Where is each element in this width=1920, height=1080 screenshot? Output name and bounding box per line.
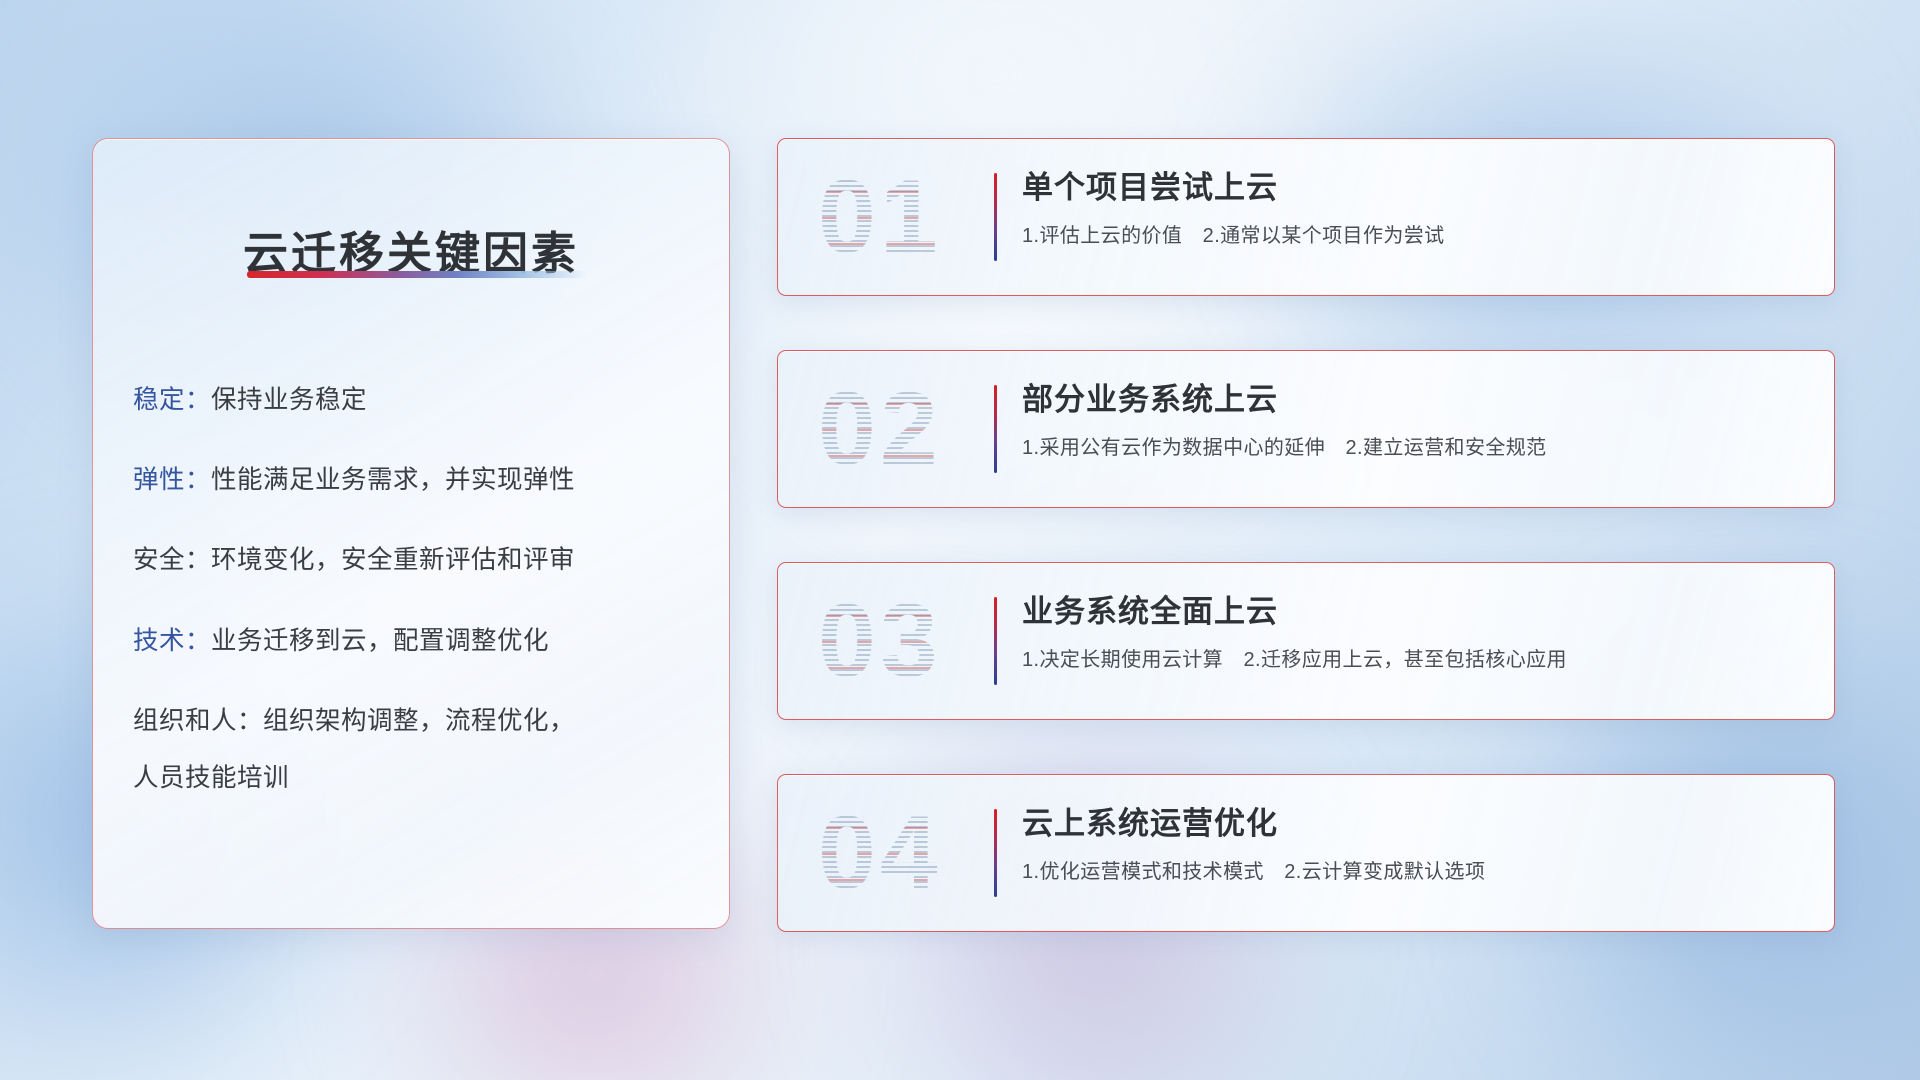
stage-body-02: 部分业务系统上云 1.采用公有云作为数据中心的延伸 2.建立运营和安全规范 — [1022, 381, 1810, 460]
stage-number-02-red-overlay: 02 — [818, 377, 942, 481]
stage-title-03: 业务系统全面上云 — [1022, 593, 1810, 630]
stage-card-01[interactable]: 01 01 单个项目尝试上云 1.评估上云的价值 2.通常以某个项目作为尝试 — [777, 138, 1835, 296]
factor-list: 稳定：保持业务稳定 弹性：性能满足业务需求，并实现弹性 安全：环境变化，安全重新… — [133, 382, 699, 794]
stage-subtitle-01: 1.评估上云的价值 2.通常以某个项目作为尝试 — [1022, 219, 1810, 248]
stage-subtitle-03: 1.决定长期使用云计算 2.迁移应用上云，甚至包括核心应用 — [1022, 643, 1810, 672]
migration-stage-card-list: 01 01 单个项目尝试上云 1.评估上云的价值 2.通常以某个项目作为尝试 0… — [777, 138, 1835, 932]
stage-card-02[interactable]: 02 02 部分业务系统上云 1.采用公有云作为数据中心的延伸 2.建立运营和安… — [777, 350, 1835, 508]
stage-divider-bar-04 — [994, 809, 997, 897]
stage-divider-bar-02 — [994, 385, 997, 473]
stage-card-03[interactable]: 03 03 业务系统全面上云 1.决定长期使用云计算 2.迁移应用上云，甚至包括… — [777, 562, 1835, 720]
stage-title-01: 单个项目尝试上云 — [1022, 169, 1810, 206]
factor-label-stability: 稳定： — [133, 386, 211, 414]
stage-divider-bar-03 — [994, 597, 997, 685]
factor-text-technology: 业务迁移到云，配置调整优化 — [211, 627, 549, 655]
factor-label-organization: 组织和人： — [133, 707, 263, 735]
stage-card-04[interactable]: 04 04 云上系统运营优化 1.优化运营模式和技术模式 2.云计算变成默认选项 — [777, 774, 1835, 932]
factor-item-elasticity: 弹性：性能满足业务需求，并实现弹性 — [133, 462, 699, 498]
stage-title-02: 部分业务系统上云 — [1022, 381, 1810, 418]
stage-number-01-red-overlay: 01 — [818, 165, 942, 269]
stage-body-04: 云上系统运营优化 1.优化运营模式和技术模式 2.云计算变成默认选项 — [1022, 805, 1810, 884]
factor-text-elasticity: 性能满足业务需求，并实现弹性 — [211, 466, 575, 494]
stage-title-04: 云上系统运营优化 — [1022, 805, 1810, 842]
factor-text-security: 环境变化，安全重新评估和评审 — [211, 546, 575, 574]
factor-text-organization: 组织架构调整，流程优化， — [263, 707, 575, 735]
title-underline-rule — [247, 271, 587, 278]
stage-divider-bar-01 — [994, 173, 997, 261]
factor-item-organization: 组织和人：组织架构调整，流程优化， — [133, 703, 699, 739]
factor-text-organization-continued: 人员技能培训 — [133, 757, 699, 794]
key-factors-panel: 云迁移关键因素 稳定：保持业务稳定 弹性：性能满足业务需求，并实现弹性 安全：环… — [92, 138, 730, 929]
factor-label-technology: 技术： — [133, 627, 211, 655]
factor-item-security: 安全：环境变化，安全重新评估和评审 — [133, 542, 699, 578]
stage-number-03-red-overlay: 03 — [818, 589, 942, 693]
factor-label-elasticity: 弹性： — [133, 466, 211, 494]
factor-item-stability: 稳定：保持业务稳定 — [133, 382, 699, 418]
factor-item-technology: 技术：业务迁移到云，配置调整优化 — [133, 623, 699, 659]
stage-subtitle-04: 1.优化运营模式和技术模式 2.云计算变成默认选项 — [1022, 855, 1810, 884]
factor-text-stability: 保持业务稳定 — [211, 386, 367, 414]
stage-subtitle-02: 1.采用公有云作为数据中心的延伸 2.建立运营和安全规范 — [1022, 431, 1810, 460]
stage-body-01: 单个项目尝试上云 1.评估上云的价值 2.通常以某个项目作为尝试 — [1022, 169, 1810, 248]
factor-label-security: 安全： — [133, 546, 211, 574]
stage-body-03: 业务系统全面上云 1.决定长期使用云计算 2.迁移应用上云，甚至包括核心应用 — [1022, 593, 1810, 672]
stage-number-04-red-overlay: 04 — [818, 801, 942, 905]
